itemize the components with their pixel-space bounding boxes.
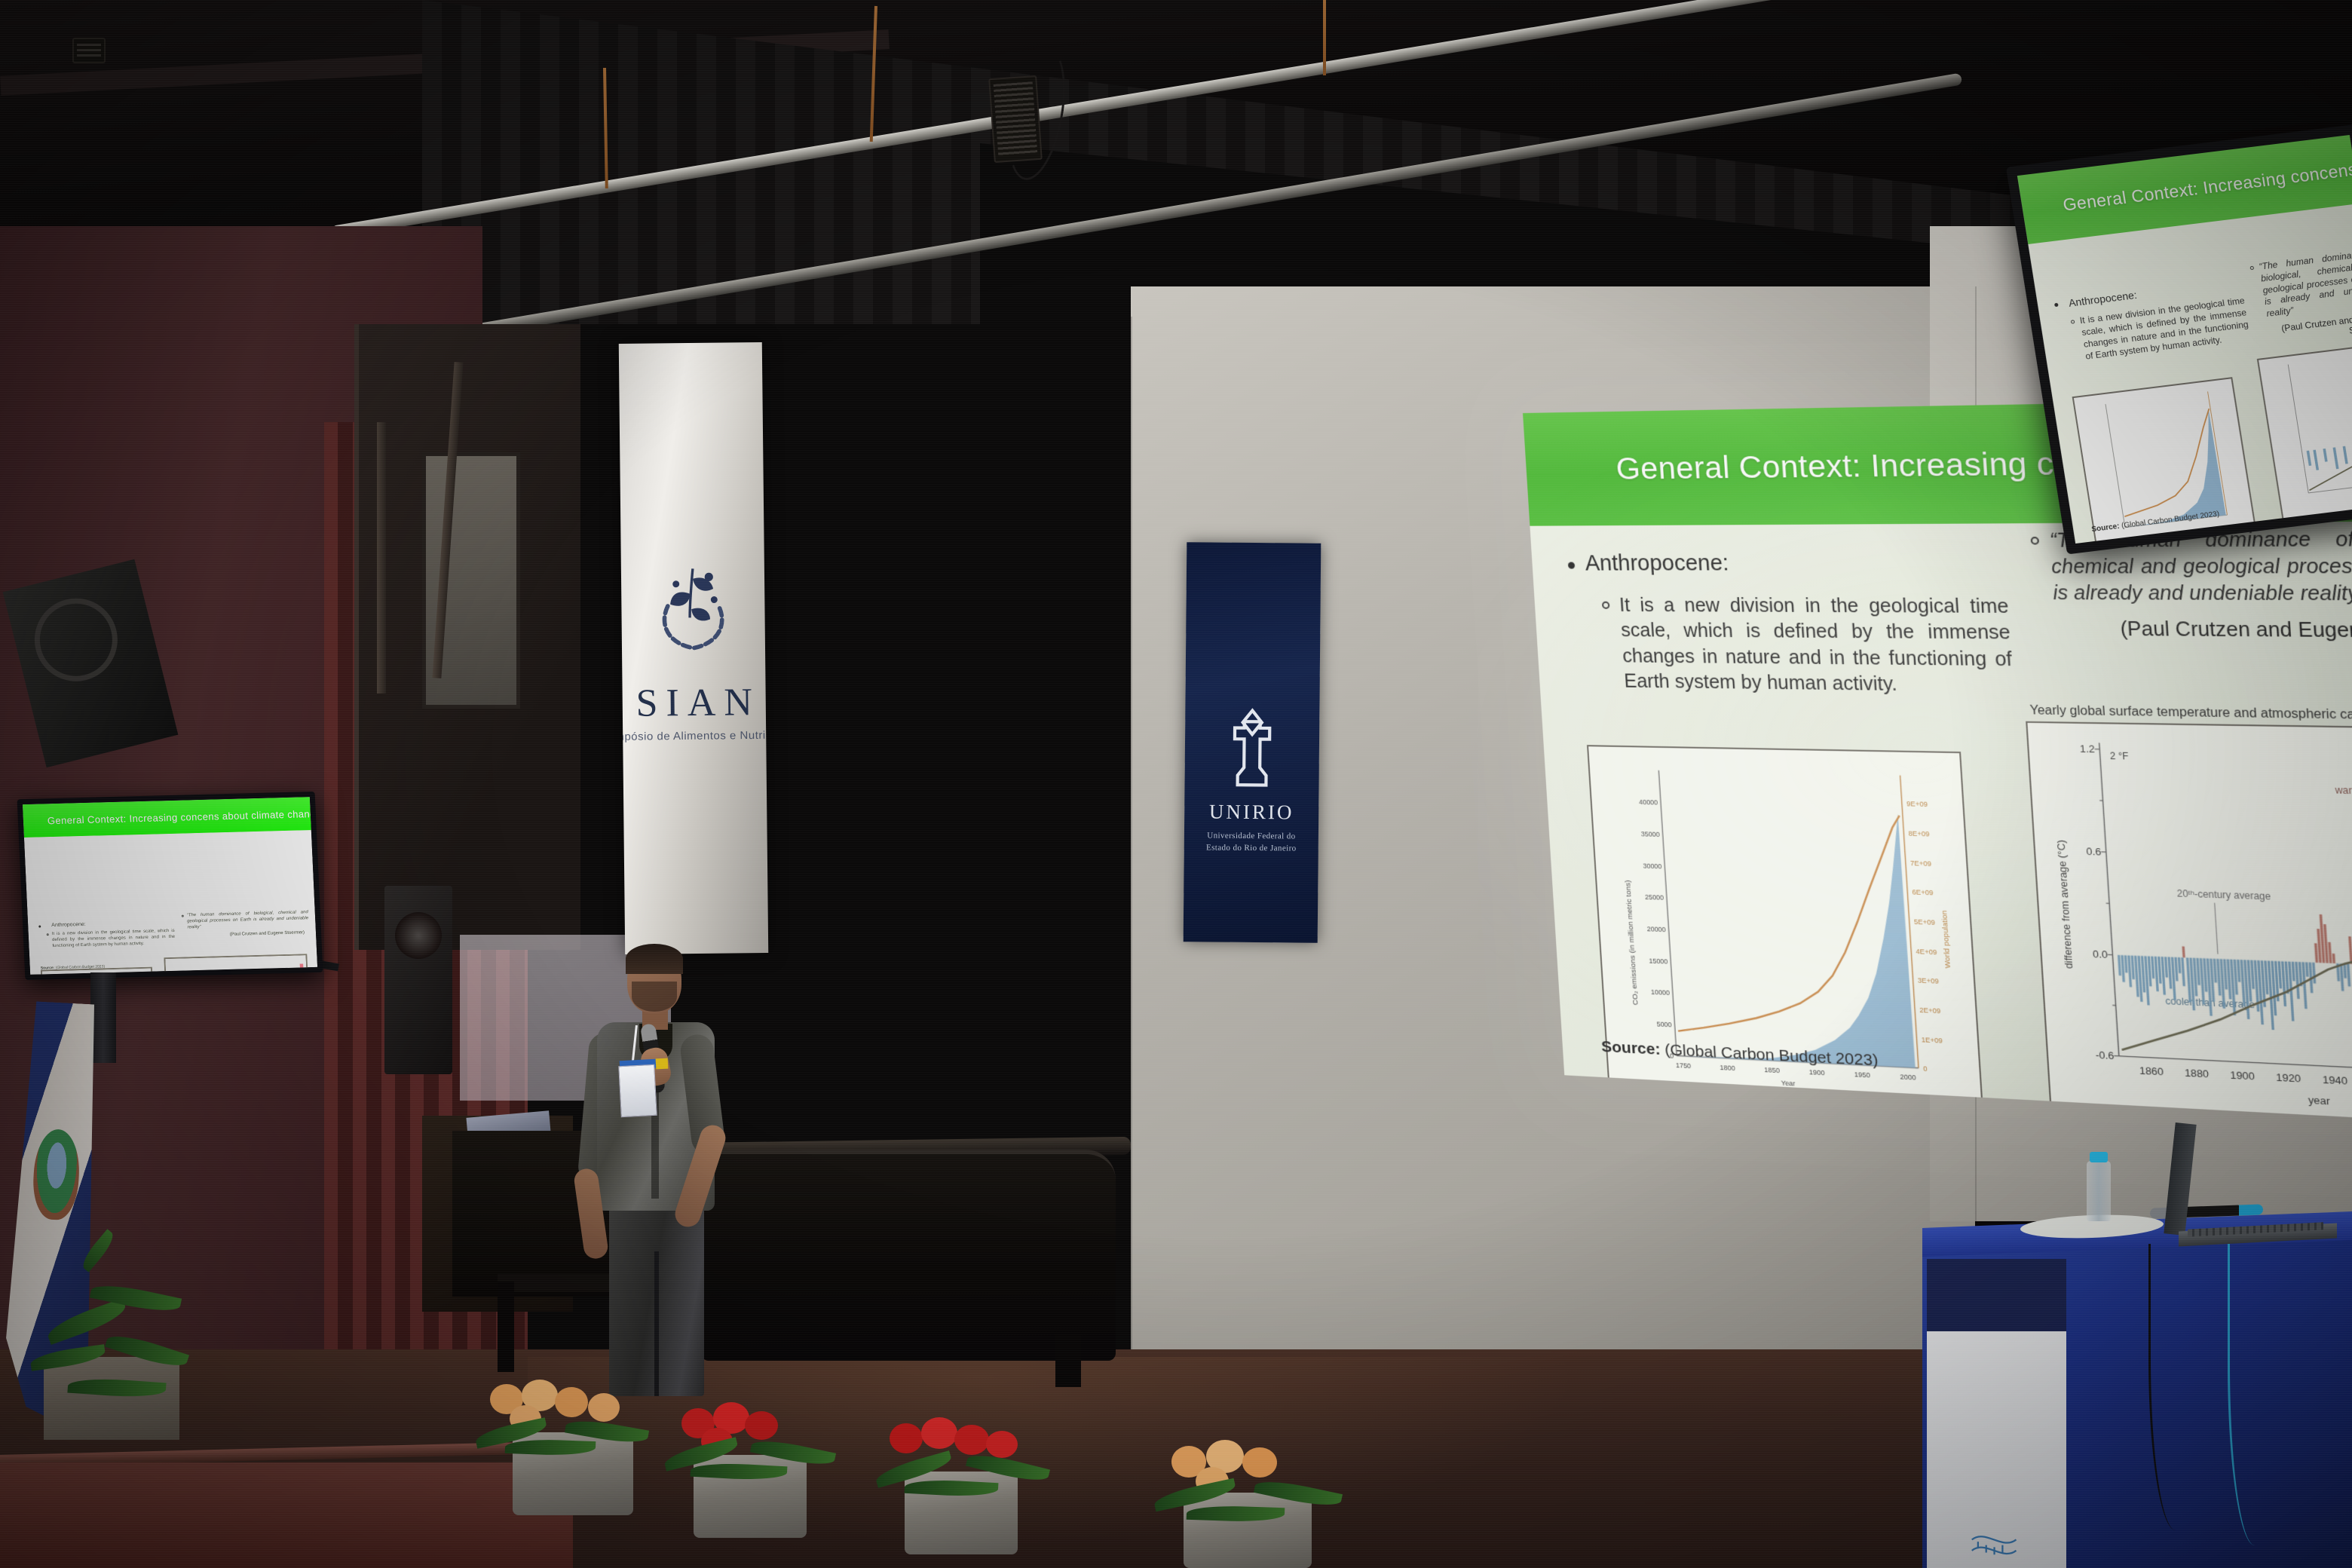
flower-bloom [745,1411,778,1440]
svg-text:1860: 1860 [2139,1064,2164,1078]
svg-text:1920: 1920 [2276,1071,2301,1085]
svg-text:9E+09: 9E+09 [1906,800,1928,808]
slide-header: General Context: Increasing concens abou… [23,797,311,838]
svg-text:1800: 1800 [1720,1064,1735,1072]
slide-bullet-label: Anthropocene: [51,922,86,928]
fern-leaf [505,1438,596,1456]
svg-text:5000: 5000 [1656,1020,1672,1028]
svg-text:1850: 1850 [1764,1066,1780,1074]
svg-text:1880: 1880 [2184,1067,2209,1080]
svg-text:0.6: 0.6 [2086,845,2102,858]
red-flowers [874,1417,1048,1500]
bullet-dot-icon [2054,303,2059,308]
bullet-dot-icon [1568,562,1575,569]
confidence-monitor-right[interactable]: General Context: Increasing concens abou… [2006,124,2352,555]
svg-text:1950: 1950 [1854,1070,1871,1079]
slide-quote-text: “The human dominance of biological, chem… [187,910,309,931]
svg-text:1900: 1900 [1809,1068,1825,1076]
slide-bullet-anthropocene: Anthropocene: [38,920,174,929]
bullet-circle-icon [47,933,49,936]
dna-helix-icon [1927,1458,2066,1563]
stage-scene: SIAN Simpósio de Alimentos e Nutrição UN… [0,0,2352,1568]
flower-bloom [555,1387,588,1417]
svg-text:4E+09: 4E+09 [1916,948,1937,957]
badge-clip [656,1058,669,1070]
chart-temperature-anomaly: 1.2 0.6 0.0 -0.6 2 °F difference fr [2026,721,2352,1127]
bottle-cap [2090,1152,2108,1162]
bullet-circle-icon [2249,266,2254,271]
unirio-banner: UNIRIO Universidade Federal do Estado do… [1184,542,1321,943]
slide-right-column: “The human dominance of biological, chem… [2249,247,2352,347]
bullet-circle-icon [2071,320,2075,324]
slide-right-column: “The human dominance of biological, chem… [182,910,309,938]
svg-text:8E+09: 8E+09 [1908,829,1929,838]
sian-banner-title: SIAN [627,680,761,726]
monitor-slide-right: General Context: Increasing concens abou… [2017,135,2352,544]
svg-text:7E+09: 7E+09 [1910,859,1931,867]
svg-text:0: 0 [1923,1065,1928,1073]
chart-temperature-svg [165,955,309,975]
potted-plant [23,1199,196,1425]
svg-text:15000: 15000 [1649,957,1668,965]
presenter-hair [626,944,683,974]
presenter [573,935,739,1395]
flower-bloom [954,1425,989,1455]
unirio-subtitle-line1: Universidade Federal do [1207,831,1295,841]
fern-leaf [1254,1476,1343,1511]
slide-left-column: Anthropocene: It is a new division in th… [2053,276,2251,366]
svg-text:0.0: 0.0 [2093,948,2109,960]
slide-quote: “The human dominance of biological, chem… [2249,247,2352,322]
monitor-slide-left: General Context: Increasing concens abou… [23,797,317,975]
bullet-circle-icon [1602,602,1610,609]
svg-text:-0.6: -0.6 [2095,1049,2115,1061]
table-front-banner [1927,1259,2066,1568]
presenter-leg-gap [654,1251,659,1396]
piano-leg [1055,1334,1081,1387]
bullet-circle-icon [2031,537,2040,545]
unirio-subtitle-line2: Estado do Rio de Janeiro [1206,843,1297,853]
slide-body: Anthropocene: It is a new division in th… [28,910,317,975]
plant-leaf [105,1330,189,1373]
slide-bullet-label: Anthropocene: [1585,551,1730,577]
water-bottle [2087,1161,2111,1221]
slide-body: Anthropocene: It is a new division in th… [1530,521,2352,1127]
fern-leaf [905,1478,999,1498]
fern-leaf [1187,1505,1285,1524]
conference-badge [618,1064,657,1117]
svg-text:2 °F: 2 °F [2110,750,2129,761]
slide-quote-attribution: (Paul Crutzen and Eugene Stoermer) [2035,617,2352,643]
unirio-banner-title: UNIRIO [1209,801,1294,825]
orange-flowers [1153,1440,1342,1523]
pa-speaker-cone [395,912,442,959]
chart-temperature-svg: 1.2 0.6 0.0 -0.6 2 °F difference fr [2027,723,2352,1127]
stage-light-fixture-2 [72,38,106,63]
plant-leaf [67,1376,166,1399]
red-flowers [663,1402,837,1485]
svg-text:6E+09: 6E+09 [1912,889,1933,897]
slide-bullet-label: Anthropocene: [2068,289,2138,309]
svg-text:year: year [2308,1094,2331,1107]
flower-bloom [921,1417,957,1449]
presenter-beard [632,982,677,1012]
svg-text:25000: 25000 [1645,893,1664,902]
svg-text:1940: 1940 [2322,1073,2347,1087]
bullet-circle-icon [182,915,184,917]
svg-text:Year: Year [1781,1080,1795,1088]
flower-bloom [588,1393,620,1422]
slide-quote: “The human dominance of biological, chem… [182,910,309,931]
chart-temperature-anomaly [164,954,311,975]
slide-title: General Context: Increasing concens abou… [23,807,318,826]
slide-bullet-anthropocene: Anthropocene: [1567,550,2007,577]
svg-text:2000: 2000 [1900,1073,1916,1083]
svg-text:2E+09: 2E+09 [1919,1006,1940,1015]
slide-quote-attribution: (Paul Crutzen and Eugene Stoermer) [182,930,309,938]
wall-seam [1131,317,1132,1387]
bullet-dot-icon [38,925,41,927]
plant-leaf [29,1344,106,1371]
leaf-wreath-icon [651,561,736,655]
confidence-monitor-left[interactable]: General Context: Increasing concens abou… [17,792,323,980]
fern-leaf [691,1462,788,1482]
svg-text:3E+09: 3E+09 [1918,977,1939,986]
svg-text:20000: 20000 [1646,925,1666,933]
svg-text:35000: 35000 [1640,830,1660,838]
flower-bloom [986,1431,1018,1458]
slide-sub-bullet-text: It is a new division in the geological t… [1619,593,2014,699]
stage-apron [0,1462,573,1568]
flower-bloom [890,1423,923,1453]
svg-text:1900: 1900 [2230,1069,2256,1083]
chart-temperature-svg [2259,338,2352,522]
slide-left-column: Anthropocene: It is a new division in th… [38,920,176,951]
slide-source-label: Source: [41,966,55,970]
rigging-rope-3 [1323,0,1326,75]
slide-body: Anthropocene: It is a new division in th… [2035,247,2352,544]
svg-text:10000: 10000 [1651,988,1671,997]
flower-bloom [1242,1447,1277,1478]
svg-text:1750: 1750 [1676,1061,1692,1070]
slide-left-column: Anthropocene: It is a new division in th… [1567,550,2014,699]
svg-text:5E+09: 5E+09 [1914,918,1935,926]
slide-sub-bullet: It is a new division in the geological t… [47,929,176,950]
wall-pipe [377,422,386,694]
svg-text:30000: 30000 [1643,862,1662,870]
slide-sub-bullet-text: It is a new division in the geological t… [2079,296,2251,363]
sian-banner: SIAN Simpósio de Alimentos e Nutrição [619,342,768,954]
slide-sub-bullet-text: It is a new division in the geological t… [52,929,176,950]
svg-text:40000: 40000 [1639,798,1658,807]
svg-text:1.2: 1.2 [2079,743,2095,755]
orange-flowers [475,1380,663,1462]
sian-banner-subtitle: Simpósio de Alimentos e Nutrição [619,729,768,743]
chart-temperature-anomaly [2257,336,2352,525]
piano-leg [498,1282,514,1372]
plant-leaf [78,1229,118,1272]
slide-quote-text: “The human dominance of biological, chem… [2259,247,2352,320]
unirio-banner-subtitle: Universidade Federal do Estado do Rio de… [1191,830,1312,855]
slide-sub-bullet: It is a new division in the geological t… [1601,593,2014,699]
grand-piano [701,1150,1116,1361]
unirio-crest-icon [1220,707,1284,791]
svg-text:1E+09: 1E+09 [1922,1036,1943,1045]
slide-source-label: Source: [1601,1038,1661,1058]
